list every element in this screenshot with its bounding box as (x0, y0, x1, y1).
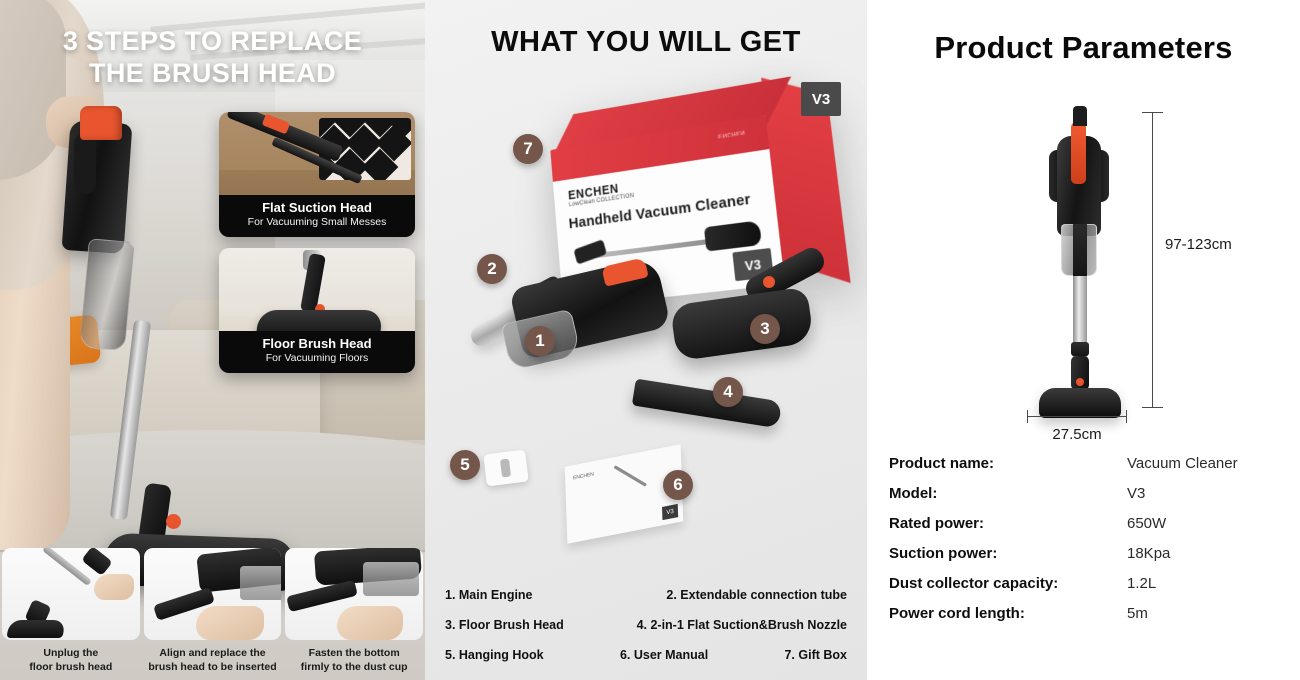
step-caption-line-2: floor brush head (29, 661, 112, 673)
contents-row: 5. Hanging Hook 6. User Manual 7. Gift B… (445, 648, 847, 662)
package-contents-list: 1. Main Engine 2. Extendable connection … (425, 588, 867, 666)
badge-2[interactable]: 2 (477, 254, 507, 284)
left-title-line-1: 3 STEPS TO REPLACE (63, 26, 362, 56)
height-dimension-label: 97-123cm (1165, 236, 1232, 253)
manual-model-badge: V3 (662, 504, 678, 520)
page-title-right: Product Parameters (867, 0, 1300, 66)
step-item[interactable]: Fasten the bottom firmly to the dust cup (285, 548, 423, 680)
step-thumbnail-2 (144, 548, 282, 640)
spec-key: Suction power: (889, 545, 1127, 562)
spec-key: Model: (889, 485, 1127, 502)
step-caption-line-1: Fasten the bottom (309, 647, 400, 659)
step-caption-line-1: Align and replace the (159, 647, 265, 659)
step-caption-3: Fasten the bottom firmly to the dust cup (285, 647, 423, 675)
spec-value: 1.2L (1127, 575, 1156, 592)
manual-illustration (605, 463, 661, 516)
contents-item-2: 2. Extendable connection tube (666, 588, 847, 602)
feature-subtitle: For Vacuuming Small Messes (223, 216, 411, 230)
vacuum-product-image (1035, 106, 1125, 406)
spec-value: 18Kpa (1127, 545, 1170, 562)
page-title-middle: WHAT YOU WILL GET (425, 0, 867, 59)
step-caption-line-1: Unplug the (43, 647, 98, 659)
badge-5[interactable]: 5 (450, 450, 480, 480)
spec-row: Suction power: 18Kpa (889, 545, 1278, 562)
feature-title: Flat Suction Head (223, 201, 411, 216)
width-dimension-label: 27.5cm (1007, 426, 1147, 443)
vacuum-grip (74, 134, 96, 194)
contents-item-6: 6. User Manual (620, 648, 708, 662)
panel-product-parameters: Product Parameters 97-123cm 27.5cm (867, 0, 1300, 680)
box-mirror-brand: ENCHEN (718, 129, 746, 139)
spec-row: Product name: Vacuum Cleaner (889, 455, 1278, 472)
vacuum-top-cap (1073, 106, 1087, 126)
vacuum-dust-cup (79, 238, 134, 352)
spec-value: 650W (1127, 515, 1166, 532)
product-infographic: 3 STEPS TO REPLACE THE BRUSH HEAD Flat S (0, 0, 1300, 680)
step-item[interactable]: Align and replace the brush head to be i… (144, 548, 282, 680)
step-caption-1: Unplug the floor brush head (2, 647, 140, 675)
feature-card-floor-brush-head[interactable]: Floor Brush Head For Vacuuming Floors (219, 248, 415, 373)
badge-4[interactable]: 4 (713, 377, 743, 407)
contents-item-7: 7. Gift Box (784, 648, 847, 662)
flat-suction-brush-nozzle (632, 379, 782, 429)
spec-key: Dust collector capacity: (889, 575, 1127, 592)
package-contents-photo: ENCHEN ENCHEN LowClean COLLECTION Handhe… (425, 64, 867, 540)
contents-item-1: 1. Main Engine (445, 588, 533, 602)
hanging-hook (483, 450, 529, 487)
specifications-table: Product name: Vacuum Cleaner Model: V3 R… (867, 455, 1300, 635)
contents-item-3: 3. Floor Brush Head (445, 618, 564, 632)
step-thumbnail-3 (285, 548, 423, 640)
width-dimension-line (1027, 416, 1127, 417)
step-caption-2: Align and replace the brush head to be i… (144, 647, 282, 675)
feature-caption-flat-suction: Flat Suction Head For Vacuuming Small Me… (219, 195, 415, 237)
spec-key: Product name: (889, 455, 1127, 472)
feature-card-flat-suction-head[interactable]: Flat Suction Head For Vacuuming Small Me… (219, 112, 415, 237)
badge-7[interactable]: 7 (513, 134, 543, 164)
floor-brush-release (763, 276, 775, 288)
badge-1[interactable]: 1 (525, 326, 555, 356)
step-caption-line-2: firmly to the dust cup (301, 661, 408, 673)
spec-value: V3 (1127, 485, 1145, 502)
height-dimension-line (1152, 112, 1153, 408)
spec-value: Vacuum Cleaner (1127, 455, 1238, 472)
left-title-line-2: THE BRUSH HEAD (89, 58, 336, 88)
vacuum-floor-head (1039, 388, 1121, 418)
panel-replace-brush-head: 3 STEPS TO REPLACE THE BRUSH HEAD Flat S (0, 0, 425, 680)
vacuum-orange-trigger (1071, 122, 1086, 184)
spec-key: Power cord length: (889, 605, 1127, 622)
badge-3[interactable]: 3 (750, 314, 780, 344)
spec-row: Model: V3 (889, 485, 1278, 502)
badge-6[interactable]: 6 (663, 470, 693, 500)
panel-what-you-will-get: WHAT YOU WILL GET ENCHEN ENCHEN LowClean… (425, 0, 867, 680)
product-dimension-figure: 97-123cm 27.5cm (867, 96, 1300, 426)
spec-value: 5m (1127, 605, 1148, 622)
page-title-left: 3 STEPS TO REPLACE THE BRUSH HEAD (0, 26, 425, 90)
vacuum-rod-joint (1071, 342, 1089, 356)
floor-brush-head (670, 287, 814, 362)
spec-row: Rated power: 650W (889, 515, 1278, 532)
vacuum-cup-core (1073, 224, 1087, 276)
v3-floor-label: V3 (801, 82, 841, 116)
spec-row: Power cord length: 5m (889, 605, 1278, 622)
step-thumbnail-1 (2, 548, 140, 640)
vacuum-body (62, 120, 133, 254)
contents-item-4: 4. 2-in-1 Flat Suction&Brush Nozzle (637, 618, 847, 632)
feature-subtitle: For Vacuuming Floors (223, 352, 411, 366)
vacuum-in-use-illustration (62, 106, 222, 536)
vacuum-release-dot (1076, 378, 1084, 386)
manual-brand: ENCHEN (573, 471, 594, 481)
steps-row: Unplug the floor brush head Align and re… (0, 548, 425, 680)
feature-caption-floor-brush: Floor Brush Head For Vacuuming Floors (219, 331, 415, 373)
step-item[interactable]: Unplug the floor brush head (2, 548, 140, 680)
contents-item-5: 5. Hanging Hook (445, 648, 544, 662)
contents-row: 3. Floor Brush Head 4. 2-in-1 Flat Sucti… (445, 618, 847, 632)
feature-title: Floor Brush Head (223, 337, 411, 352)
contents-row: 1. Main Engine 2. Extendable connection … (445, 588, 847, 602)
step-caption-line-2: brush head to be inserted (148, 661, 276, 673)
vacuum-release-button (166, 514, 181, 529)
spec-key: Rated power: (889, 515, 1127, 532)
vacuum-trigger (80, 106, 122, 140)
spec-row: Dust collector capacity: 1.2L (889, 575, 1278, 592)
